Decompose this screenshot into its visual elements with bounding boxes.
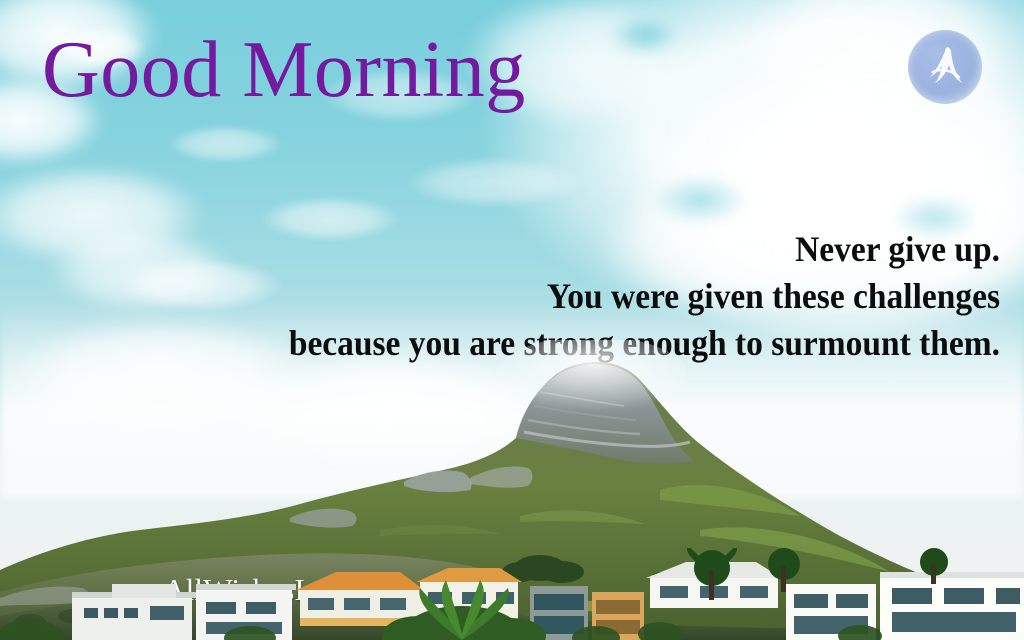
page-title: Good Morning [42,30,526,110]
brand-logo[interactable] [908,30,982,104]
letter-a-icon [917,39,973,95]
houses-svg [0,548,1024,640]
quote-line-1: Never give up. [163,226,1000,273]
quote-line-2: You were given these challenges [163,273,1000,320]
coastal-houses [0,548,1024,640]
greeting-card: Good Morning Never give up. You were giv… [0,0,1024,640]
